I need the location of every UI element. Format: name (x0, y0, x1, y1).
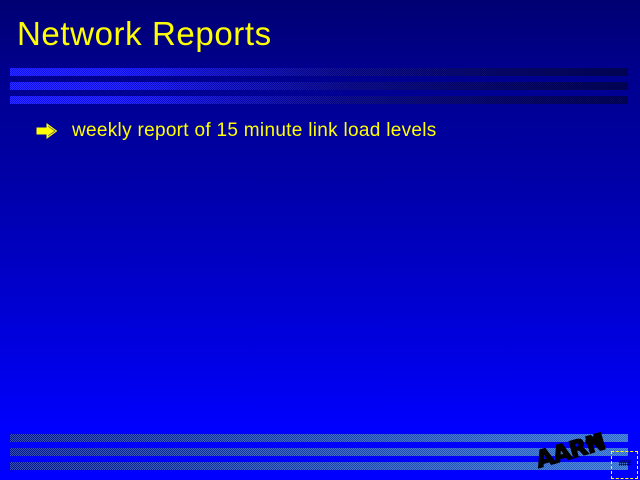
page-number-text: ### (612, 459, 637, 468)
decorative-bar (10, 96, 628, 104)
decorative-bar (10, 68, 628, 76)
bullet-list-item: weekly report of 15 minute link load lev… (36, 119, 437, 143)
top-decorative-bars (10, 68, 628, 104)
page-number-placeholder: ### (611, 451, 638, 479)
aarnet-logo: AARN et (534, 430, 610, 470)
bullet-list-item-label: weekly report of 15 minute link load lev… (72, 119, 437, 143)
page-title: Network Reports (17, 15, 272, 53)
decorative-bar (10, 82, 628, 90)
right-arrow-icon (36, 123, 58, 139)
presentation-slide: Network Reports weekly report of 15 minu… (0, 0, 640, 480)
